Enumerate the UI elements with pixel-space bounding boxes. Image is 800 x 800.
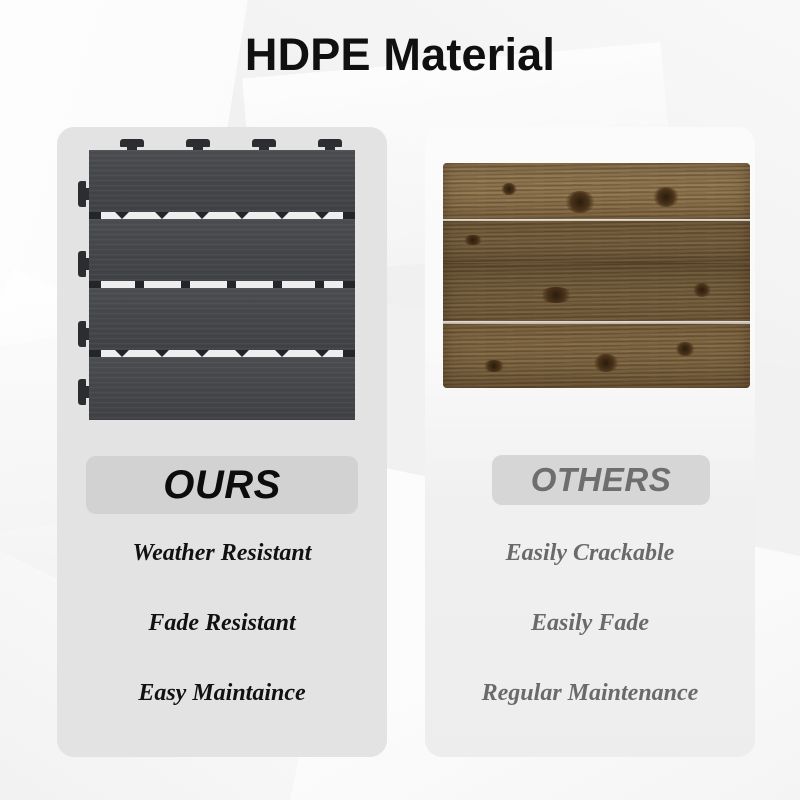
deck-slat-gap (89, 281, 355, 288)
feature-item: Easy Maintaince (57, 680, 387, 707)
feature-item: Weather Resistant (57, 540, 387, 567)
deck-slat (89, 150, 355, 212)
badge-others-label: OTHERS (531, 461, 672, 499)
badge-ours-label: OURS (163, 463, 281, 508)
deck-slat-gap (89, 212, 355, 219)
deck-slat (89, 357, 355, 420)
feature-list-ours: Weather Resistant Fade Resistant Easy Ma… (57, 540, 387, 750)
badge-others: OTHERS (492, 455, 710, 505)
page-title: HDPE Material (0, 29, 800, 81)
deck-slat-gap (89, 350, 355, 357)
feature-item: Easily Crackable (425, 540, 755, 567)
deck-tile-surface (89, 150, 355, 420)
feature-item: Regular Maintenance (425, 680, 755, 707)
wood-plank (443, 263, 750, 325)
hdpe-deck-tile-image (78, 139, 366, 421)
deck-slat (89, 288, 355, 350)
deck-slat (89, 219, 355, 281)
feature-list-others: Easily Crackable Easily Fade Regular Mai… (425, 540, 755, 750)
feature-item: Easily Fade (425, 610, 755, 637)
weathered-wood-planks-image (443, 163, 750, 388)
wood-plank (443, 221, 750, 265)
badge-ours: OURS (86, 456, 358, 514)
feature-item: Fade Resistant (57, 610, 387, 637)
wood-plank (443, 163, 750, 221)
wood-plank (443, 324, 750, 388)
